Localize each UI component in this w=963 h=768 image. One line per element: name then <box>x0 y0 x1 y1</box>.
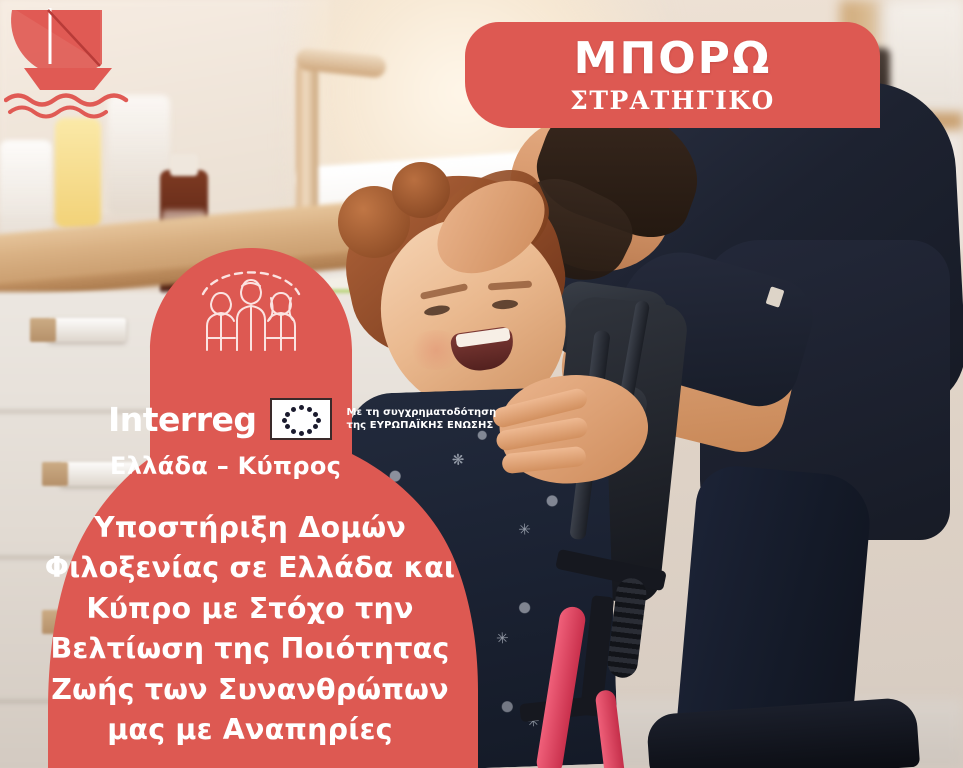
family-group-icon <box>193 264 309 356</box>
eu-cofunding-line-2: της ΕΥΡΩΠΑΪΚΗΣ ΕΝΩΣΗΣ <box>346 420 493 431</box>
sailboat-logo <box>4 2 134 120</box>
headline-line: Ζωής των Συνανθρώπων <box>18 670 482 710</box>
programme-countries: Ελλάδα – Κύπρος <box>110 452 341 480</box>
headline-line: Κύπρο με Στόχο την <box>18 589 482 629</box>
amber-bottle-cap <box>170 154 198 176</box>
headline-line: Υποστήριξη Δομών <box>18 508 482 548</box>
banner-subtitle: ΣΤΡΑΤΗΓΙΚΟ <box>570 88 775 113</box>
eu-cofunding-text: Με τη συγχρηματοδότηση της ΕΥΡΩΠΑΪΚΗΣ ΕΝ… <box>346 406 496 432</box>
poster-canvas: ✳ ❋ ✳ ❋ ✳ ❋ ✳ <box>0 0 963 768</box>
interreg-logo-row: Interreg Με τη συγχρηματοδότηση <box>108 398 496 440</box>
child-hair-bun-right <box>392 162 450 218</box>
header-banner: ΜΠΟΡΩ ΣΤΡΑΤΗΓΙΚΟ <box>465 22 880 128</box>
faucet <box>296 60 318 220</box>
eu-flag-icon <box>270 398 332 440</box>
sailboat-logo-svg <box>4 2 134 120</box>
project-headline: Υποστήριξη Δομών Φιλοξενίας σε Ελλάδα κα… <box>18 508 482 751</box>
banner-title: ΜΠΟΡΩ <box>574 37 772 81</box>
family-group-icon-svg <box>193 264 309 356</box>
headline-line: Βελτίωση της Ποιότητας <box>18 629 482 669</box>
interreg-wordmark: Interreg <box>108 403 256 436</box>
eu-cofunding-line-1: Με τη συγχρηματοδότηση <box>346 407 496 418</box>
headline-line: Φιλοξενίας σε Ελλάδα και <box>18 548 482 588</box>
yellow-bottle <box>55 118 101 228</box>
headline-line: μας με Αναπηρίες <box>18 710 482 750</box>
info-arch-panel: Interreg Με τη συγχρηματοδότηση <box>0 240 500 768</box>
